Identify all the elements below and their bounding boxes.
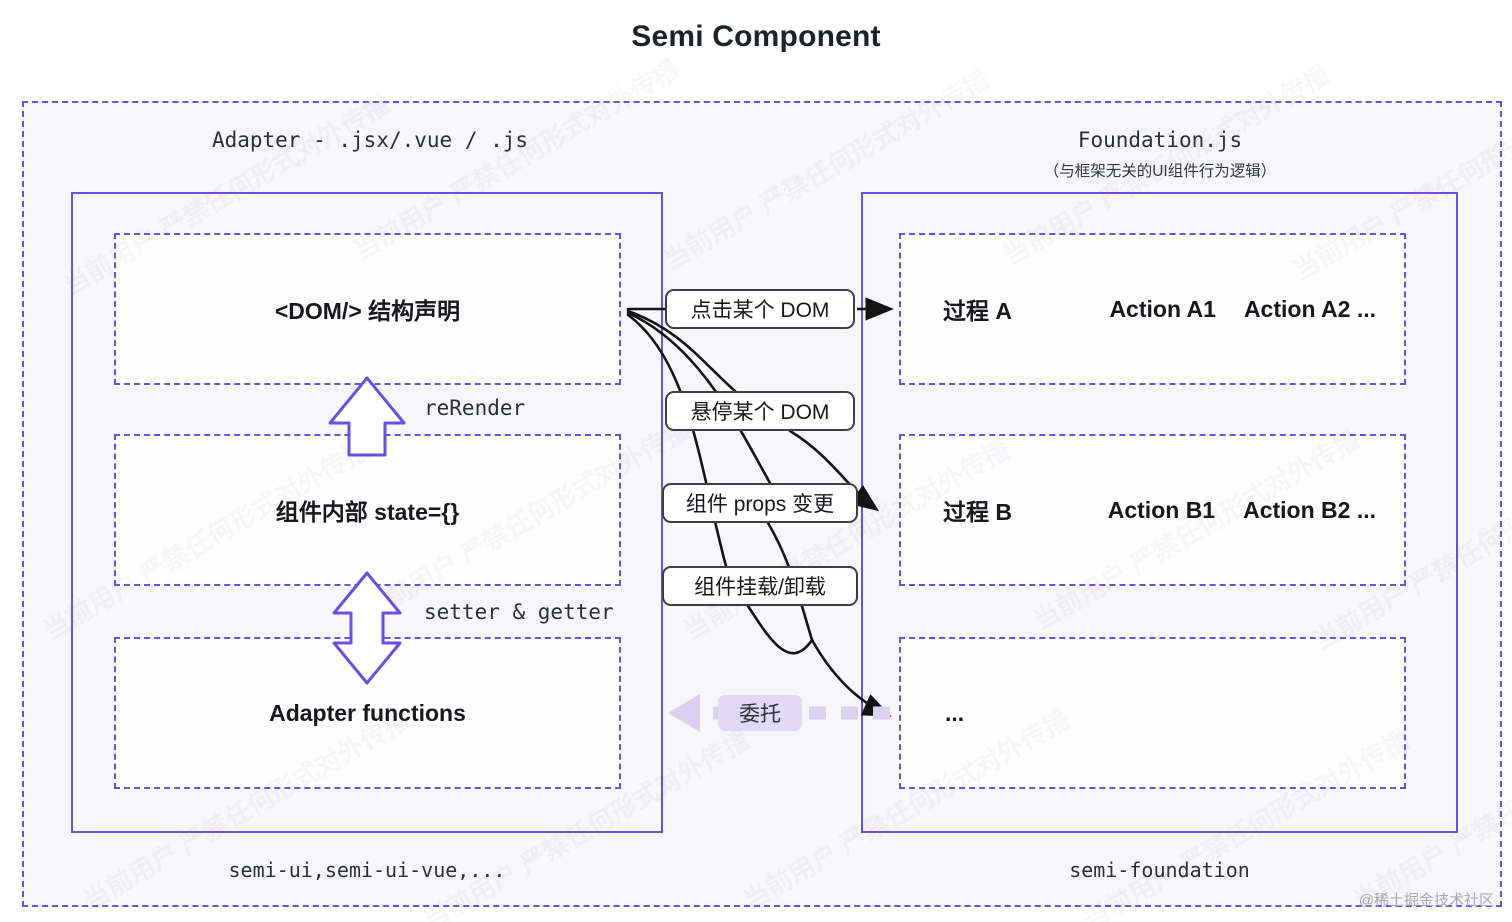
event-props-change-label: 组件 props 变更 (686, 488, 834, 518)
event-hover-dom-label: 悬停某个 DOM (691, 396, 830, 426)
event-props-change[interactable]: 组件 props 变更 (662, 483, 858, 523)
setter-getter-arrow-icon (334, 573, 400, 683)
delegate-badge: 委托 (718, 695, 802, 731)
setter-getter-label: setter & getter (424, 600, 614, 624)
diagram-canvas: Semi Component 当前用户 严禁任何形式对外传播 当前用户 严禁任何… (0, 0, 1512, 922)
rerender-arrow-icon (330, 378, 404, 455)
event-click-dom[interactable]: 点击某个 DOM (665, 289, 855, 329)
delegate-label: 委托 (739, 698, 781, 728)
rerender-label: reRender (424, 396, 525, 420)
event-hover-dom[interactable]: 悬停某个 DOM (665, 391, 855, 431)
event-mount-unmount[interactable]: 组件挂载/卸载 (662, 566, 858, 606)
event-click-dom-label: 点击某个 DOM (691, 294, 830, 324)
adapter-internal-arrow-layer (0, 0, 1512, 922)
event-mount-unmount-label: 组件挂载/卸载 (694, 571, 826, 601)
